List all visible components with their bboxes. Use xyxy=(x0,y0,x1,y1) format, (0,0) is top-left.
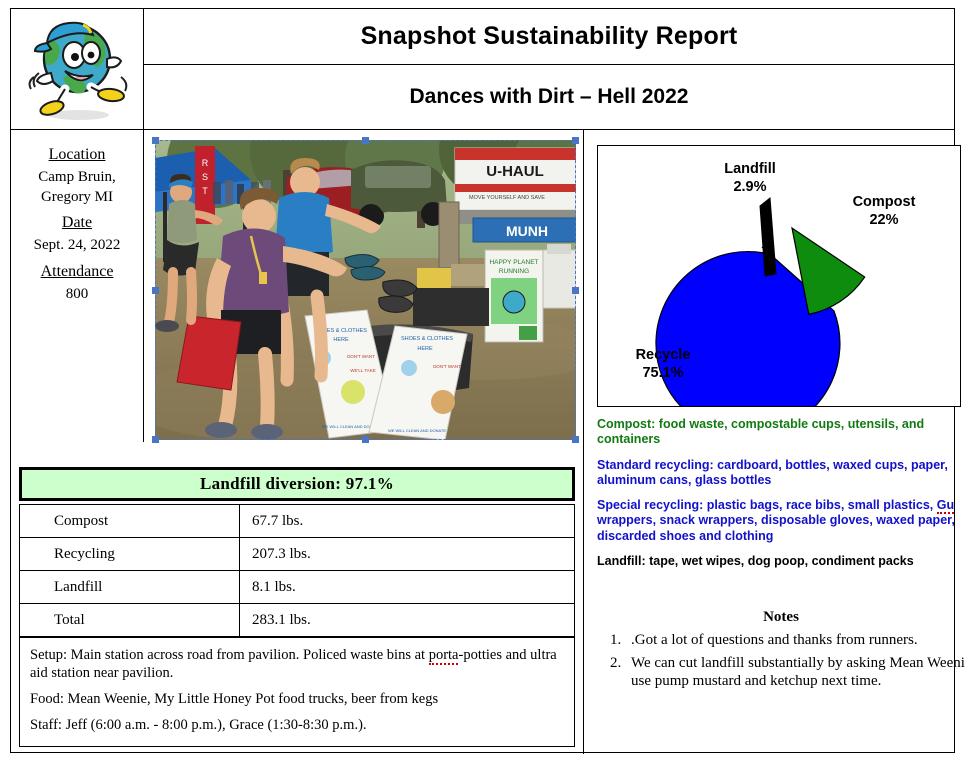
svg-text:DON'T WANT: DON'T WANT xyxy=(433,364,461,369)
pie-label-compost-value: 22% xyxy=(869,212,898,228)
svg-text:DON'T WANT: DON'T WANT xyxy=(347,354,375,359)
svg-text:HERE: HERE xyxy=(333,337,349,343)
legend-landfill: Landfill: tape, wet wipes, dog poop, con… xyxy=(597,554,965,569)
resize-handle-bottom-center[interactable] xyxy=(362,436,369,443)
table-row: Compost 67.7 lbs. xyxy=(20,505,575,538)
event-photo[interactable]: R S T xyxy=(155,140,576,440)
pie-label-recycle-name: Recycle xyxy=(636,347,691,363)
legend-compost: Compost: food waste, compostable cups, u… xyxy=(597,417,965,448)
logistics-notes-box: Setup: Main station across road from pav… xyxy=(19,637,575,747)
legend-standard-recycling: Standard recycling: cardboard, bottles, … xyxy=(597,458,965,489)
row-category: Compost xyxy=(20,505,240,538)
staff-note: Staff: Jeff (6:00 a.m. - 8:00 p.m.), Gra… xyxy=(30,716,564,734)
svg-text:U-HAUL: U-HAUL xyxy=(486,163,544,180)
landfill-diversion-text: Landfill diversion: 97.1% xyxy=(200,474,394,494)
header-divider xyxy=(11,129,954,130)
resize-handle-middle-right[interactable] xyxy=(572,287,579,294)
svg-text:MOVE YOURSELF AND SAVE: MOVE YOURSELF AND SAVE xyxy=(469,195,545,201)
row-weight: 8.1 lbs. xyxy=(240,571,575,604)
report-frame: Snapshot Sustainability Report Dances wi… xyxy=(10,8,955,753)
svg-text:S: S xyxy=(202,172,208,182)
list-item: We can cut landfill substantially by ask… xyxy=(625,654,965,690)
pie-label-landfill-value: 2.9% xyxy=(733,179,766,195)
notes-heading: Notes xyxy=(597,609,965,626)
legend-special-part1: Special recycling: plastic bags, race bi… xyxy=(597,498,937,512)
sustainability-report-page: Snapshot Sustainability Report Dances wi… xyxy=(0,0,965,762)
resize-handle-middle-left[interactable] xyxy=(152,287,159,294)
date-label: Date xyxy=(11,213,143,233)
waste-category-definitions: Compost: food waste, compostable cups, u… xyxy=(597,417,965,579)
logo-cell xyxy=(11,9,144,129)
pie-label-recycle-value: 75.1% xyxy=(642,365,683,381)
location-value-line2: Gregory MI xyxy=(11,188,143,207)
date-value: Sept. 24, 2022 xyxy=(11,236,143,255)
waste-weights-table: Compost 67.7 lbs. Recycling 207.3 lbs. L… xyxy=(19,504,575,637)
list-item: .Got a lot of questions and thanks from … xyxy=(625,631,965,649)
running-globe-mascot-icon xyxy=(21,15,133,123)
resize-handle-top-center[interactable] xyxy=(362,137,369,144)
pie-label-compost-name: Compost xyxy=(853,194,916,210)
location-value-line1: Camp Bruin, xyxy=(11,168,143,187)
resize-handle-top-right[interactable] xyxy=(572,137,579,144)
setup-note: Setup: Main station across road from pav… xyxy=(30,646,564,682)
report-title: Snapshot Sustainability Report xyxy=(361,22,738,51)
svg-text:HERE: HERE xyxy=(417,346,433,352)
resize-handle-bottom-right[interactable] xyxy=(572,436,579,443)
row-weight: 283.1 lbs. xyxy=(240,604,575,637)
waste-weights-body: Compost 67.7 lbs. Recycling 207.3 lbs. L… xyxy=(20,505,575,637)
row-category: Landfill xyxy=(20,571,240,604)
row-category: Total xyxy=(20,604,240,637)
waste-breakdown-chart: Landfill 2.9% Compost 22% Recycle 75.1% xyxy=(597,145,961,407)
pie-chart-svg: Landfill 2.9% Compost 22% Recycle 75.1% xyxy=(598,146,960,406)
report-subtitle-cell: Dances with Dirt – Hell 2022 xyxy=(144,65,954,129)
svg-text:HAPPY PLANET: HAPPY PLANET xyxy=(489,259,538,266)
report-subtitle: Dances with Dirt – Hell 2022 xyxy=(410,85,689,109)
main-column-divider xyxy=(583,129,584,754)
location-label: Location xyxy=(11,145,143,165)
setup-note-part1: Setup: Main station across road from pav… xyxy=(30,647,429,663)
row-weight: 67.7 lbs. xyxy=(240,505,575,538)
attendance-label: Attendance xyxy=(11,262,143,282)
attendance-value: 800 xyxy=(11,285,143,304)
resize-handle-bottom-left[interactable] xyxy=(152,436,159,443)
svg-text:R: R xyxy=(202,158,209,168)
table-row: Landfill 8.1 lbs. xyxy=(20,571,575,604)
report-header: Snapshot Sustainability Report Dances wi… xyxy=(11,9,954,129)
svg-text:WE WILL CLEAN AND DONATE: WE WILL CLEAN AND DONATE xyxy=(388,428,446,433)
food-note: Food: Mean Weenie, My Little Honey Pot f… xyxy=(30,690,564,708)
pie-label-landfill-name: Landfill xyxy=(724,161,776,177)
event-info-column: Location Camp Bruin, Gregory MI Date Sep… xyxy=(11,129,144,442)
legend-special-recycling: Special recycling: plastic bags, race bi… xyxy=(597,498,965,544)
notes-list: .Got a lot of questions and thanks from … xyxy=(597,631,965,695)
row-category: Recycling xyxy=(20,538,240,571)
spellcheck-error-porta: porta xyxy=(429,647,459,665)
resize-handle-top-left[interactable] xyxy=(152,137,159,144)
svg-text:MUNH: MUNH xyxy=(506,223,548,239)
event-photo-container[interactable]: R S T xyxy=(152,137,579,443)
svg-text:SHOES & CLOTHES: SHOES & CLOTHES xyxy=(401,336,453,342)
landfill-diversion-banner: Landfill diversion: 97.1% xyxy=(19,467,575,501)
report-title-cell: Snapshot Sustainability Report xyxy=(144,9,954,65)
svg-text:RUNNING: RUNNING xyxy=(499,268,529,275)
table-row: Recycling 207.3 lbs. xyxy=(20,538,575,571)
spellcheck-error-gu: Gu xyxy=(937,498,954,514)
row-weight: 207.3 lbs. xyxy=(240,538,575,571)
legend-special-part2: wrappers, snack wrappers, disposable glo… xyxy=(597,513,955,542)
table-row: Total 283.1 lbs. xyxy=(20,604,575,637)
svg-text:T: T xyxy=(202,186,208,196)
svg-text:WE'LL TAKE: WE'LL TAKE xyxy=(350,368,376,373)
